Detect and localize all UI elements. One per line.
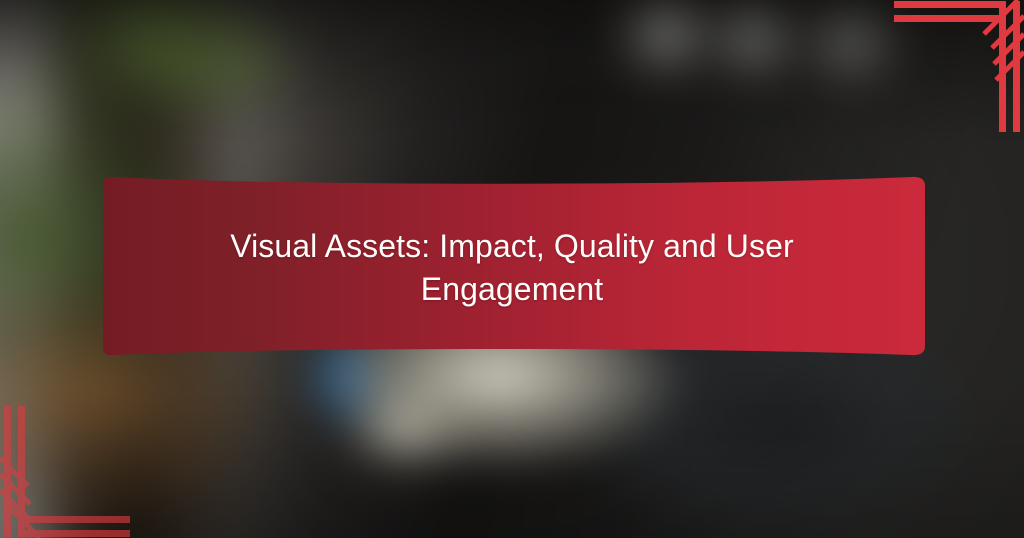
title-card: Visual Assets: Impact, Quality and User … <box>85 172 939 364</box>
page-title: Visual Assets: Impact, Quality and User … <box>230 225 794 310</box>
title-line-1: Visual Assets: Impact, Quality and User <box>230 225 794 268</box>
corner-bracket-bottom-left <box>0 398 140 538</box>
title-card-text: Visual Assets: Impact, Quality and User … <box>85 172 939 364</box>
title-card-slide: Visual Assets: Impact, Quality and User … <box>0 0 1024 538</box>
title-line-2: Engagement <box>230 268 794 311</box>
corner-bracket-top-right <box>884 0 1024 140</box>
